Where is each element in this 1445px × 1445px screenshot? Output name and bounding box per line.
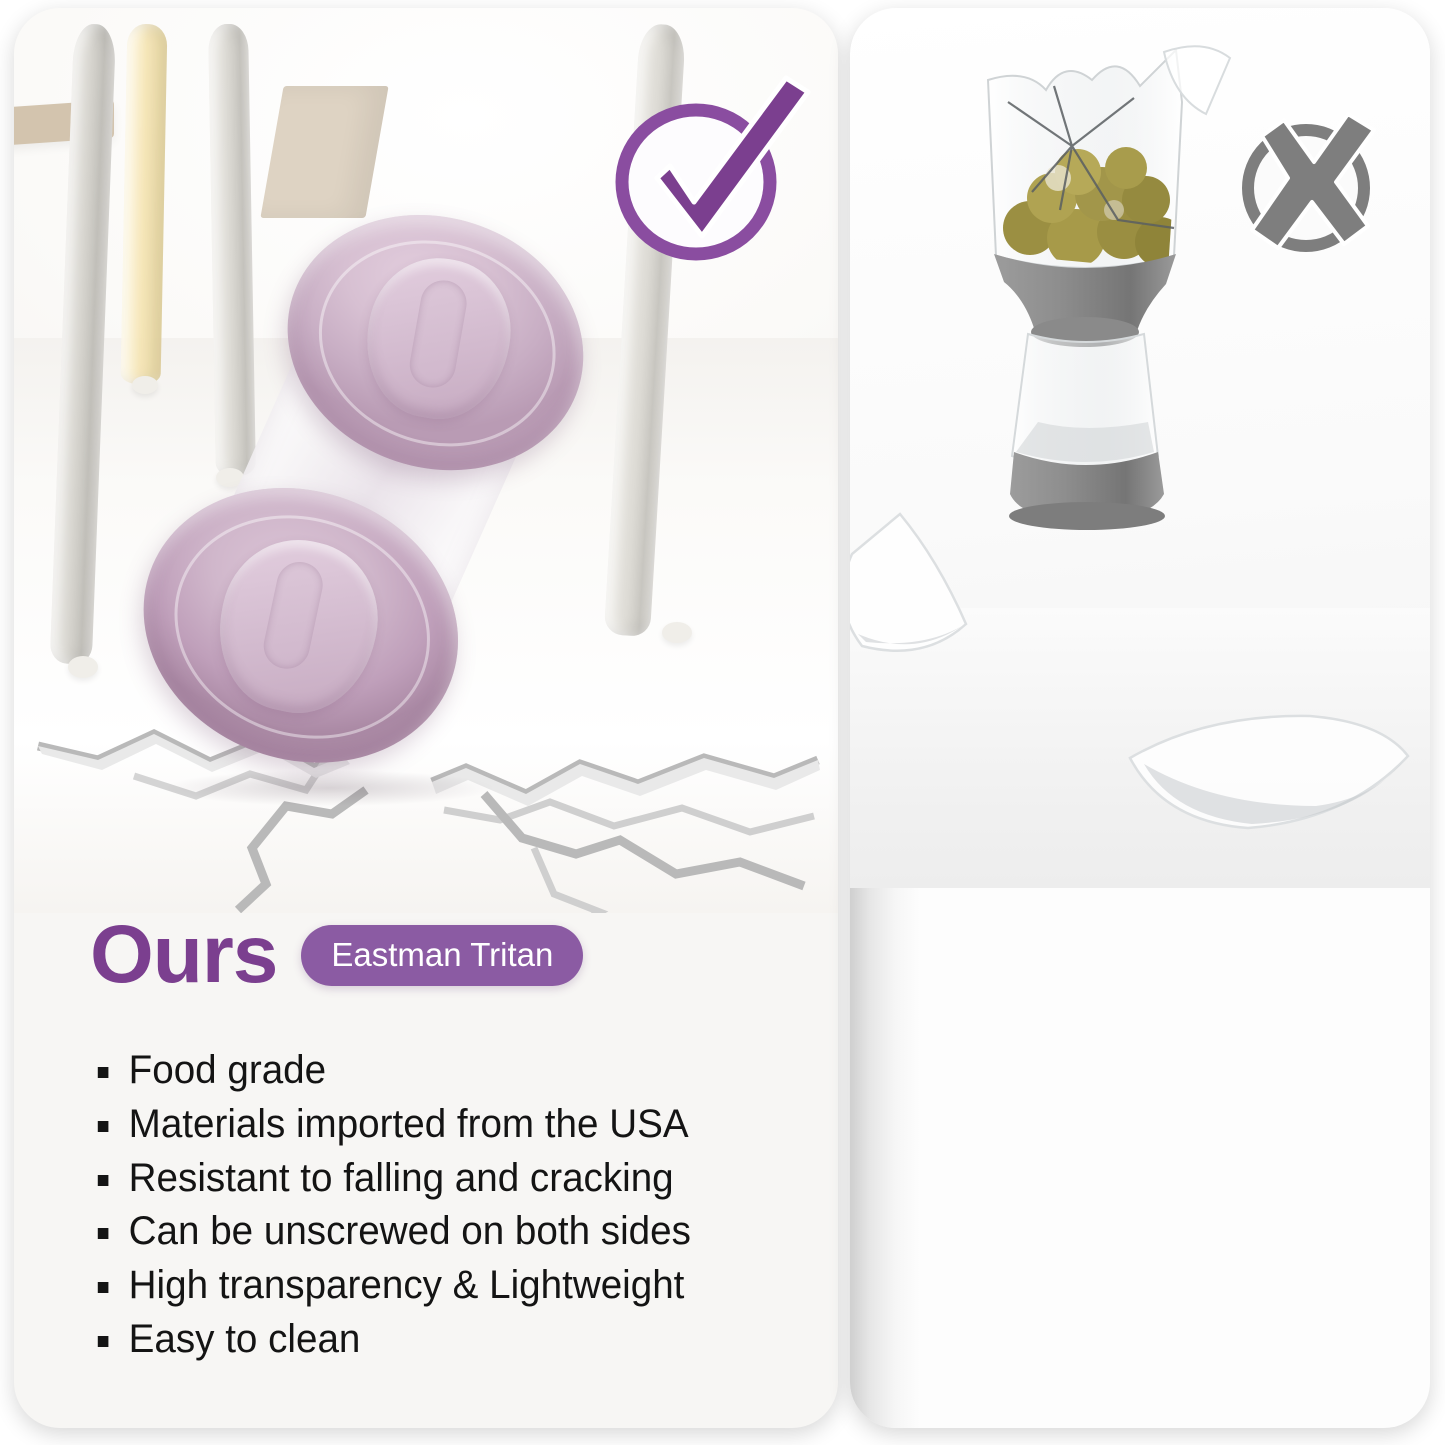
list-item: Resistant to falling and cracking [92,1156,806,1201]
others-panel: Others Not resistant to falling, easy to… [850,8,1430,1428]
ours-heading-row: Ours Eastman Tritan [90,914,583,996]
table-leg-cap-4 [662,622,692,643]
x-circle-icon [1232,108,1392,264]
ours-feature-list: Food grade Materials imported from the U… [92,1048,832,1371]
glass-shard-right [1120,686,1430,856]
ours-heading: Ours [90,914,277,996]
comparison-infographic: Ours Eastman Tritan Food grade Materials… [0,0,1445,1445]
material-badge: Eastman Tritan [301,925,583,986]
ours-panel: Ours Eastman Tritan Food grade Materials… [14,8,838,1428]
list-item: Can be unscrewed on both sides [92,1209,806,1254]
list-item: Easy to clean [92,1317,806,1362]
glass-shard-left [850,508,1013,688]
jar-contact-shadow [164,770,494,806]
list-item: Food grade [92,1048,806,1093]
check-circle-icon [610,70,816,266]
table-leg-2 [121,24,168,385]
list-item: High transparency & Lightweight [92,1263,806,1308]
list-item: Materials imported from the USA [92,1102,806,1147]
